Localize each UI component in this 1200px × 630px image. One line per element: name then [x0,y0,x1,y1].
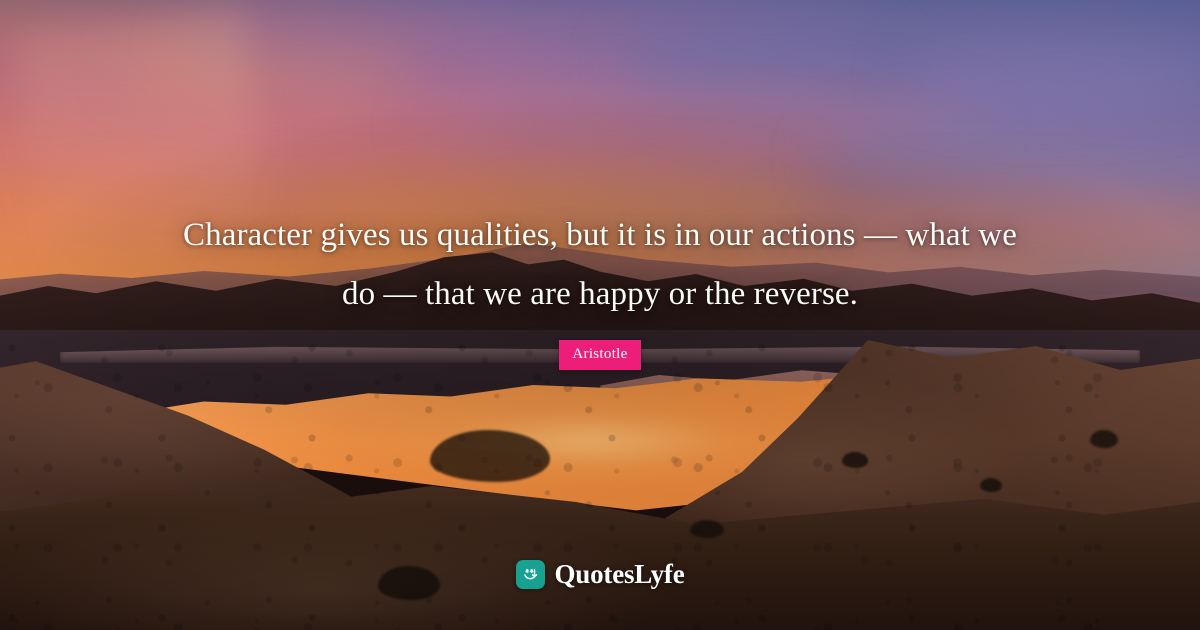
quote-card: Character gives us qualities, but it is … [0,0,1200,630]
brand-name: QuotesLyfe [555,559,685,590]
quote-smiley-icon [516,560,545,589]
author-container: Aristotle [559,340,640,370]
brand-logo[interactable]: QuotesLyfe [0,559,1200,590]
card-content: Character gives us qualities, but it is … [0,0,1200,630]
quote-text: Character gives us qualities, but it is … [170,206,1030,324]
author-badge: Aristotle [559,340,640,370]
